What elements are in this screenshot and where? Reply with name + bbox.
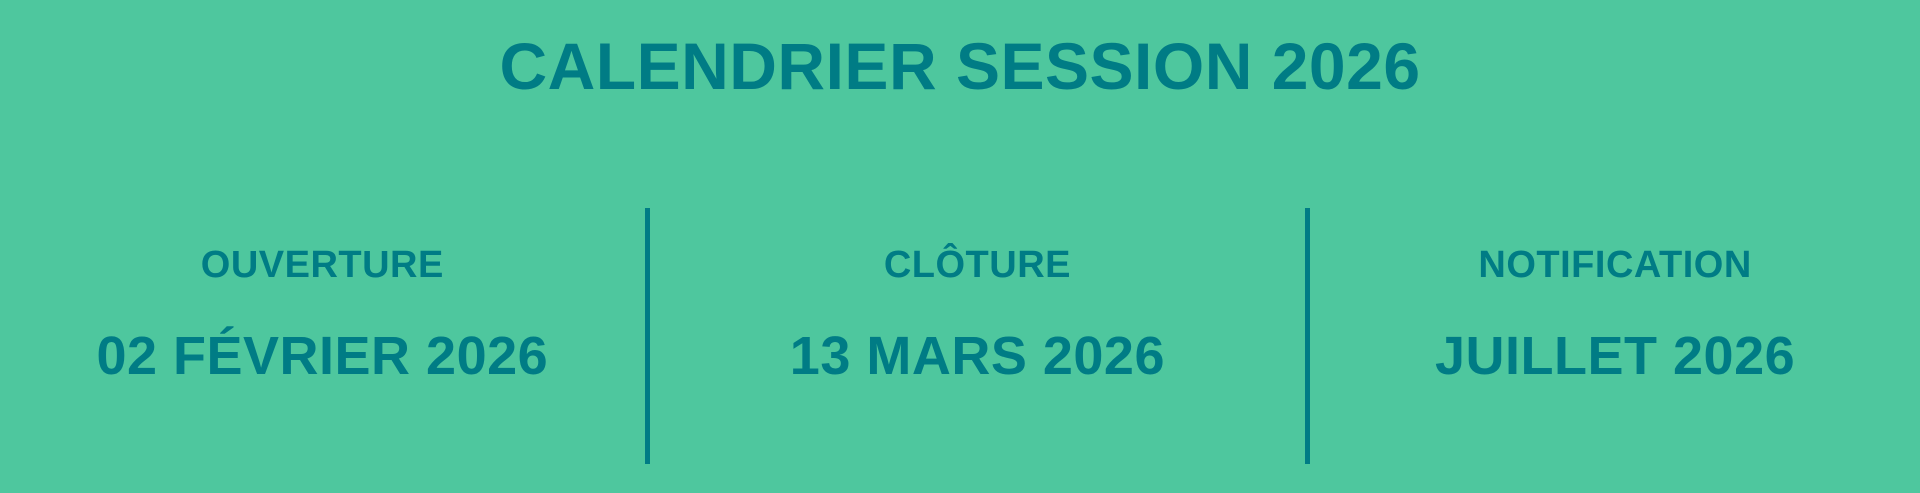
- session-column-date: 02 FÉVRIER 2026: [96, 326, 548, 386]
- calendar-session-banner: CALENDRIER SESSION 2026 OUVERTURE 02 FÉV…: [0, 0, 1920, 493]
- session-column-notification: NOTIFICATION JUILLET 2026: [1310, 208, 1920, 464]
- session-column-cloture: CLÔTURE 13 MARS 2026: [650, 208, 1306, 464]
- session-column-label: CLÔTURE: [884, 244, 1071, 286]
- session-column-ouverture: OUVERTURE 02 FÉVRIER 2026: [0, 208, 645, 464]
- session-dates-row: OUVERTURE 02 FÉVRIER 2026 CLÔTURE 13 MAR…: [0, 208, 1920, 464]
- page-title: CALENDRIER SESSION 2026: [0, 30, 1920, 102]
- session-column-label: OUVERTURE: [201, 244, 444, 286]
- session-column-label: NOTIFICATION: [1478, 244, 1751, 286]
- session-column-date: JUILLET 2026: [1435, 326, 1795, 386]
- session-column-date: 13 MARS 2026: [790, 326, 1165, 386]
